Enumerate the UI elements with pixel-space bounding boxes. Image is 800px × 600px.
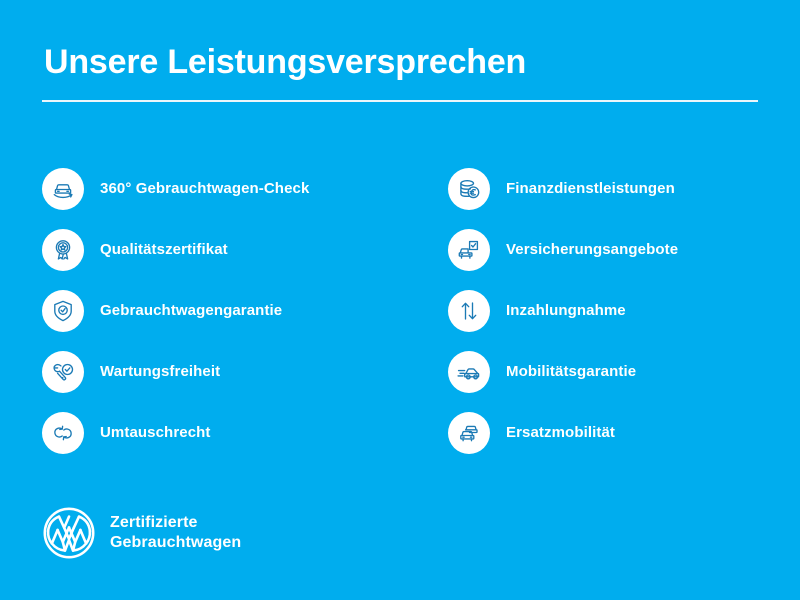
wrench-check-icon [42, 351, 84, 393]
brand-line-1: Zertifizierte [110, 513, 241, 533]
feature-label: Inzahlungnahme [506, 302, 626, 319]
coins-euro-icon [448, 168, 490, 210]
feature-label: 360° Gebrauchtwagen-Check [100, 180, 309, 197]
features-column-left: 360° Gebrauchtwagen-Check Qualitätszerti… [42, 158, 422, 463]
brand-lockup: Zertifizierte Gebrauchtwagen [42, 506, 241, 560]
volkswagen-logo [42, 506, 96, 560]
car-360-check-icon [42, 168, 84, 210]
feature-item[interactable]: Umtauschrecht [42, 402, 422, 463]
shield-check-icon [42, 290, 84, 332]
feature-item[interactable]: Inzahlungnahme [448, 280, 788, 341]
exchange-arrows-icon [42, 412, 84, 454]
page-title: Unsere Leistungsversprechen [44, 42, 526, 82]
slide-root: Unsere Leistungsversprechen 360° Gebrauc… [0, 0, 800, 600]
feature-label: Mobilitätsgarantie [506, 363, 636, 380]
feature-label: Versicherungsangebote [506, 241, 678, 258]
feature-item[interactable]: 360° Gebrauchtwagen-Check [42, 158, 422, 219]
title-divider [42, 100, 758, 102]
feature-label: Qualitätszertifikat [100, 241, 228, 258]
brand-line-2: Gebrauchtwagen [110, 533, 241, 553]
feature-item[interactable]: Ersatzmobilität [448, 402, 788, 463]
feature-label: Gebrauchtwagengarantie [100, 302, 282, 319]
feature-label: Finanzdienstleistungen [506, 180, 675, 197]
feature-item[interactable]: Gebrauchtwagengarantie [42, 280, 422, 341]
feature-item[interactable]: Qualitätszertifikat [42, 219, 422, 280]
up-down-arrows-icon [448, 290, 490, 332]
feature-item[interactable]: Finanzdienstleistungen [448, 158, 788, 219]
feature-label: Umtauschrecht [100, 424, 211, 441]
feature-item[interactable]: Wartungsfreiheit [42, 341, 422, 402]
features-column-right: Finanzdienstleistungen Versicheru [448, 158, 788, 463]
brand-text: Zertifizierte Gebrauchtwagen [110, 513, 241, 553]
feature-label: Ersatzmobilität [506, 424, 615, 441]
feature-item[interactable]: Versicherungsangebote [448, 219, 788, 280]
car-moving-icon [448, 351, 490, 393]
feature-item[interactable]: Mobilitätsgarantie [448, 341, 788, 402]
feature-label: Wartungsfreiheit [100, 363, 220, 380]
two-cars-icon [448, 412, 490, 454]
award-rosette-icon [42, 229, 84, 271]
car-clipboard-check-icon [448, 229, 490, 271]
